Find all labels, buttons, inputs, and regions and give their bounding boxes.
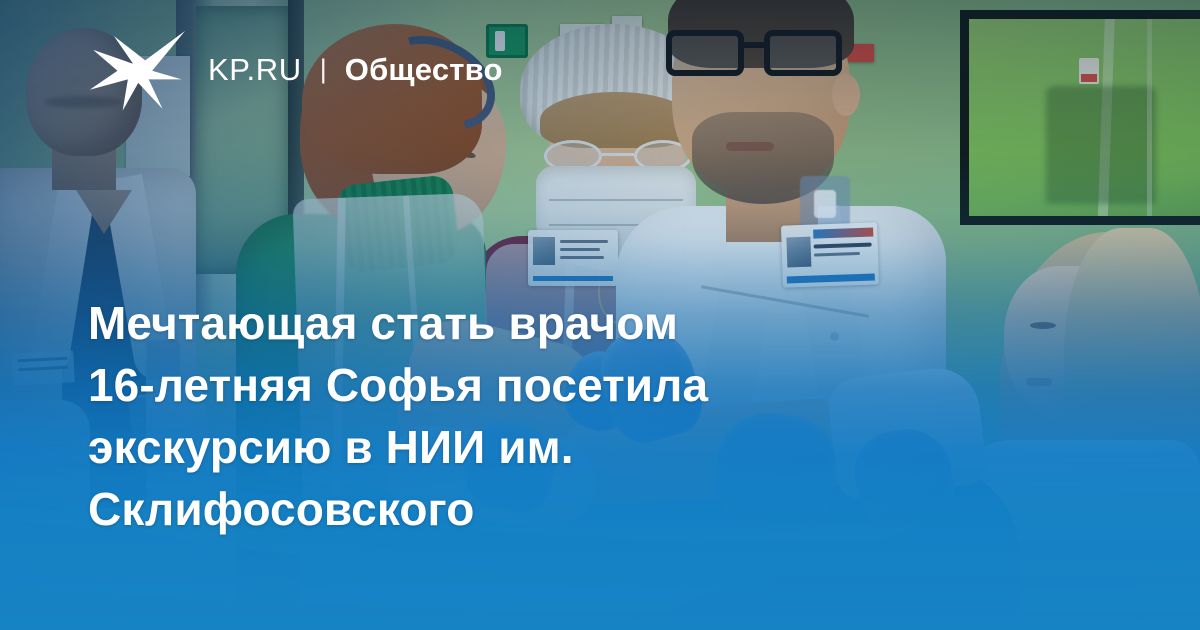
- headline-line-1: Мечтающая стать врачом: [88, 292, 948, 354]
- headline-line-3: экскурсию в НИИ им.: [88, 416, 948, 478]
- rubric-label[interactable]: Общество: [345, 54, 503, 85]
- headline-line-4: Склифосовского: [88, 478, 948, 540]
- brand-separator: |: [320, 56, 327, 83]
- swallow-bird-logo-icon: [88, 25, 192, 113]
- headline-line-2: 16-летняя Софья посетила: [88, 354, 948, 416]
- site-name[interactable]: KP.RU: [208, 54, 302, 85]
- article-headline: Мечтающая стать врачом 16-летняя Софья п…: [88, 292, 948, 540]
- card-content: KP.RU | Общество Мечтающая стать врачом …: [0, 0, 1200, 630]
- kp-ru-social-share-card: KP.RU | Общество Мечтающая стать врачом …: [0, 0, 1200, 630]
- brand-header: KP.RU | Общество: [88, 38, 503, 100]
